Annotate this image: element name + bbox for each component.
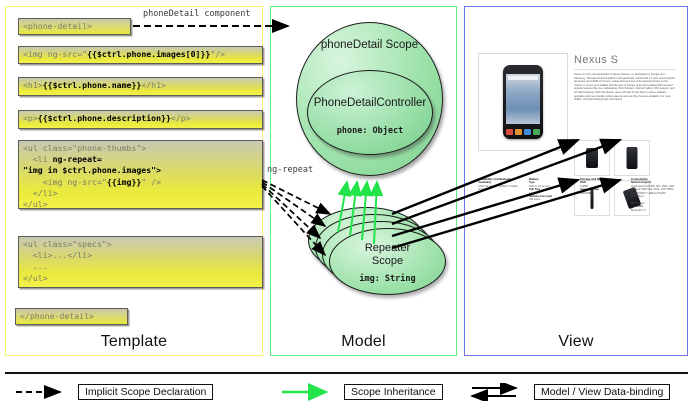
legend-item-implicit-scope: Implicit Scope Declaration <box>14 382 213 402</box>
spec-0-row-5: T-Mobile <box>508 185 518 188</box>
app-icon-3 <box>524 129 531 135</box>
spec-column-availability: Availability and Networks Availability A… <box>478 178 525 240</box>
view-title-divider <box>574 69 676 70</box>
controller-variable: phone: Object <box>308 126 432 136</box>
thumb-phone-back <box>627 147 638 169</box>
legend-label-implicit-scope: Implicit Scope Declaration <box>78 384 213 400</box>
ng-repeat-expression: "img in $ctrl.phone.images"> <box>23 165 161 175</box>
code-block-close-tag: </phone-detail> <box>15 308 128 325</box>
dashed-arrow-icon <box>14 383 70 401</box>
code-block-p: <p>{{$ctrl.phone.description}}</p> <box>18 110 263 129</box>
thumbs-line5: </li> <box>23 188 58 198</box>
open-tag-text: <phone-detail> <box>23 21 92 31</box>
spec-column-connectivity: Connectivity Network Support Quad-band G… <box>631 178 678 240</box>
code-block-h1: <h1>{{$ctrl.phone.name}}</h1> <box>18 77 263 96</box>
phone-main-image <box>478 53 568 151</box>
repeater-label-line2: Scope <box>330 255 445 267</box>
panel-label-view: View <box>464 333 688 351</box>
phone-detail-scope-label: phoneDetail Scope <box>297 39 442 51</box>
specs-line4: </ul> <box>23 273 48 283</box>
spec-1-row-5: 428 hours <box>529 198 540 201</box>
thumbnail-2[interactable] <box>614 140 650 176</box>
h1-pre: <h1> <box>23 80 43 90</box>
spec-column-battery: Battery Type Lithium Ion (Li-Ion) Talk T… <box>529 178 576 240</box>
thumbs-img-pre: <img ng-src=" <box>23 177 107 187</box>
label-phone-detail-component: phoneDetail component <box>143 9 250 19</box>
phone-detail-controller-ellipse: PhoneDetailController phone: Object <box>307 70 433 155</box>
view-specs-table: Availability and Networks Availability A… <box>478 178 678 240</box>
green-arrow-icon <box>280 383 336 401</box>
legend-label-data-binding: Model / View Data-binding <box>534 384 670 400</box>
spec-0-row-4: T-Mobile <box>498 185 508 188</box>
ng-repeat-keyword: ng-repeat= <box>53 154 102 164</box>
repeater-scope-4: Repeater Scope img: String <box>329 228 446 295</box>
thumbs-line6: </ul> <box>23 199 48 209</box>
thumbs-line1: <ul class="phone-thumbs"> <box>23 143 146 153</box>
view-phone-detail-page: Nexus S Nexus S is the next generation o… <box>474 48 680 242</box>
code-block-open-tag: <phone-detail> <box>18 18 131 35</box>
panel-label-model: Model <box>270 333 457 351</box>
legend-label-scope-inheritance: Scope Inheritance <box>344 384 443 400</box>
app-icon-1 <box>506 129 513 135</box>
app-icon-2 <box>515 129 522 135</box>
thumbs-img-binding: {{img}} <box>107 177 142 187</box>
img-binding: {{$ctrl.phone.images[0]}} <box>87 49 210 59</box>
code-block-thumbs: <ul class="phone-thumbs"> <li ng-repeat=… <box>18 140 263 209</box>
controller-label: PhoneDetailController <box>308 97 432 109</box>
legend-divider <box>5 372 688 374</box>
panel-label-template: Template <box>5 333 263 351</box>
p-pre: <p> <box>23 113 38 123</box>
specs-line3: ... <box>23 261 48 271</box>
thumbnail-1[interactable] <box>574 140 610 176</box>
diagram-canvas: <phone-detail> <img ng-src="{{$ctrl.phon… <box>0 0 693 417</box>
spec-3-row-5: Bluetooth 2.1 <box>631 209 646 212</box>
code-block-img: <img ng-src="{{$ctrl.phone.images[0]}}"/… <box>18 46 263 64</box>
phone-app-icons <box>506 123 540 135</box>
screen-search-bar <box>508 76 538 80</box>
specs-line1: <ul class="specs"> <box>23 239 112 249</box>
phone-screen <box>506 74 540 124</box>
specs-line2: <li>...</li> <box>23 250 92 260</box>
legend-item-data-binding: Model / View Data-binding <box>470 382 670 402</box>
legend-item-scope-inheritance: Scope Inheritance <box>280 382 443 402</box>
label-ng-repeat: ng-repeat <box>267 165 313 175</box>
p-binding: {{$ctrl.phone.description}} <box>38 113 171 123</box>
thumbs-img-post: " /> <box>141 177 161 187</box>
spec-0-row-3: Orange <box>489 185 497 188</box>
p-post: </p> <box>171 113 191 123</box>
close-tag-text: </phone-detail> <box>20 311 94 321</box>
thumbs-line2-pre: <li <box>23 154 53 164</box>
repeater-variable: img: String <box>330 274 445 284</box>
img-pre: <img ng-src=" <box>23 49 87 59</box>
view-phone-title: Nexus S <box>574 54 618 66</box>
thumb-phone-front <box>586 148 598 168</box>
h1-binding: {{$ctrl.phone.name}} <box>43 80 142 90</box>
app-icon-4 <box>533 129 540 135</box>
spec-0-row-6: Vodafone <box>478 188 489 191</box>
spec-2-row-3: 16384MB <box>580 192 591 195</box>
img-post: "/> <box>210 49 225 59</box>
phone-illustration <box>503 65 543 139</box>
h1-post: </h1> <box>141 80 166 90</box>
code-block-specs: <ul class="specs"> <li>...</li> ... </ul… <box>18 236 263 288</box>
view-phone-description: Nexus S is the next generation of Nexus … <box>574 73 676 135</box>
repeater-label-line1: Repeater <box>330 242 445 254</box>
spec-3-row-1: Quad-band GSM 850, 900, 1800, 1900 Tri-b… <box>631 185 674 198</box>
spec-column-storage: Storage and Memory RAM 512MB Internal St… <box>580 178 627 240</box>
double-arrow-icon <box>470 383 526 401</box>
